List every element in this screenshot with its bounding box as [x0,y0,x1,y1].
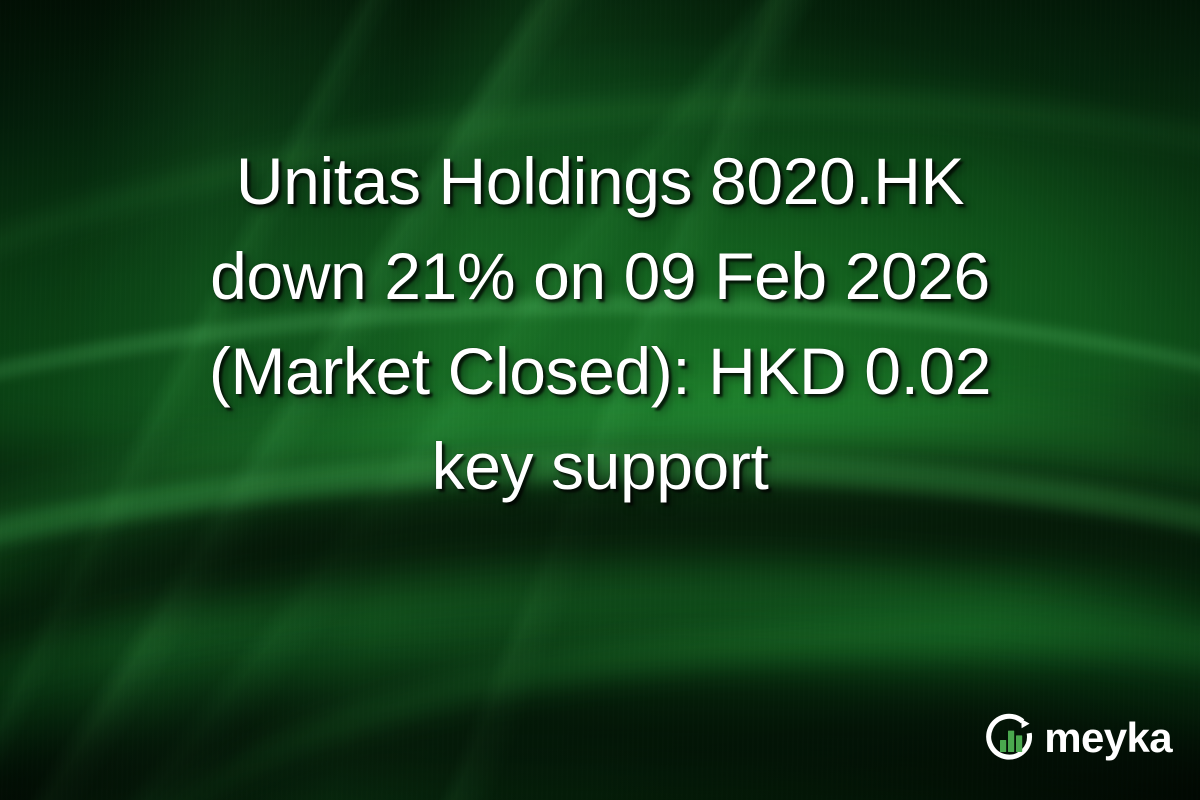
brand-wordmark: meyka [1044,717,1172,759]
headline-text: Unitas Holdings 8020.HK down 21% on 09 F… [96,134,1104,514]
social-share-card: Unitas Holdings 8020.HK down 21% on 09 F… [0,0,1200,800]
background-wave-ribbon-e [107,581,1200,800]
bar-chart-in-circle-icon [985,712,1037,764]
brand-lockup[interactable]: meyka [985,712,1172,764]
